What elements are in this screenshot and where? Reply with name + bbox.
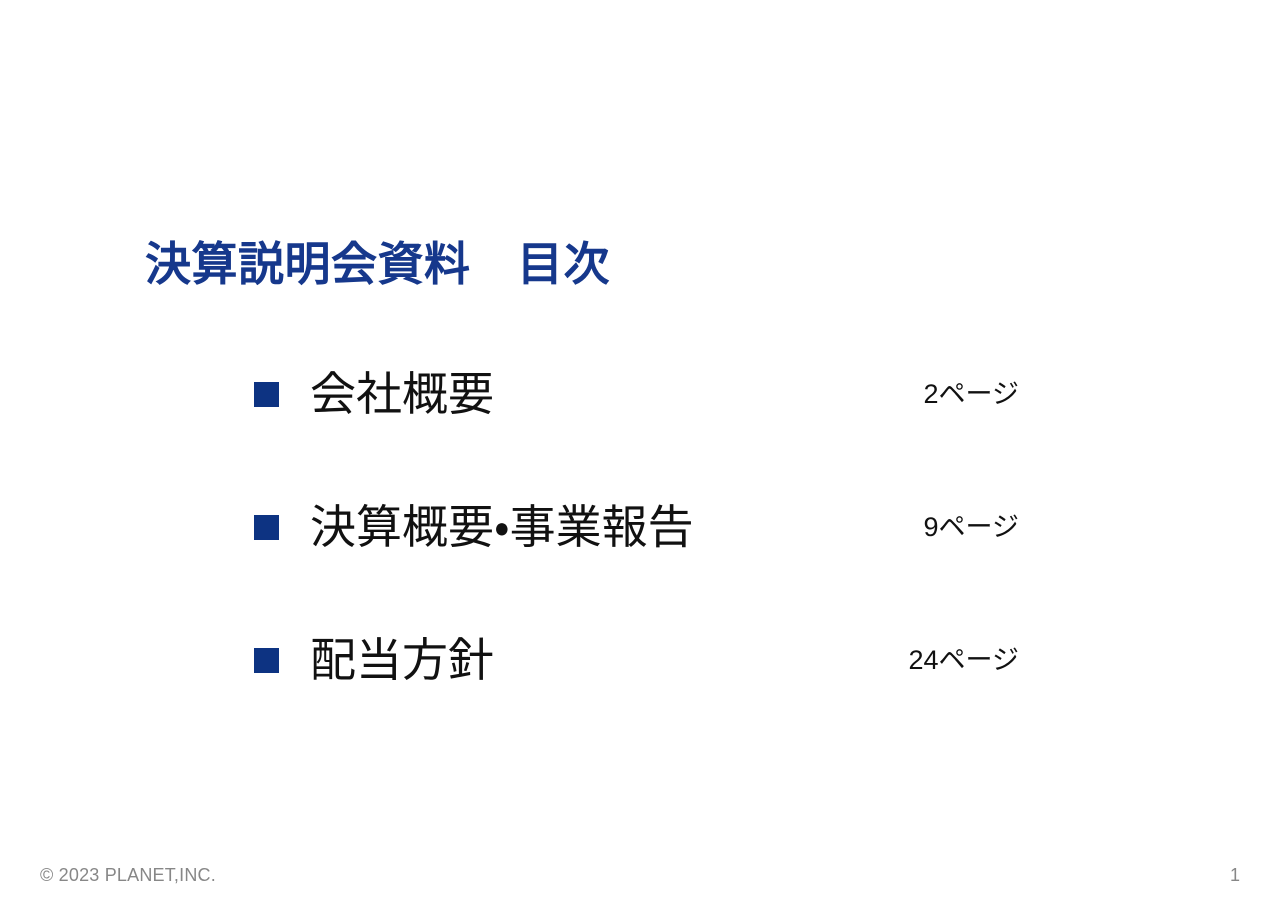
page-title: 決算説明会資料 目次 (145, 238, 610, 291)
slide-page-number: 1 (1230, 865, 1240, 886)
copyright-notice: © 2023 PLANET,INC. (40, 865, 216, 886)
toc-item-page: 24ページ (909, 647, 1020, 674)
toc-item-label: 配当方針 (279, 637, 909, 683)
list-item[interactable]: 配当方針 24ページ (254, 626, 1019, 694)
toc-item-page: 9ページ (924, 514, 1019, 541)
list-item[interactable]: 会社概要 2ページ (254, 360, 1019, 428)
list-item[interactable]: 決算概要・事業報告 9ページ (254, 493, 1019, 561)
square-bullet-icon (254, 515, 279, 540)
slide-canvas: 決算説明会資料 目次 会社概要 2ページ 決算概要・事業報告 9ページ 配当方針… (0, 0, 1280, 904)
table-of-contents: 会社概要 2ページ 決算概要・事業報告 9ページ 配当方針 24ページ (254, 360, 1019, 694)
toc-item-page: 2ページ (924, 381, 1019, 408)
square-bullet-icon (254, 648, 279, 673)
toc-item-label: 決算概要・事業報告 (279, 504, 924, 550)
toc-item-label: 会社概要 (279, 371, 924, 417)
square-bullet-icon (254, 382, 279, 407)
